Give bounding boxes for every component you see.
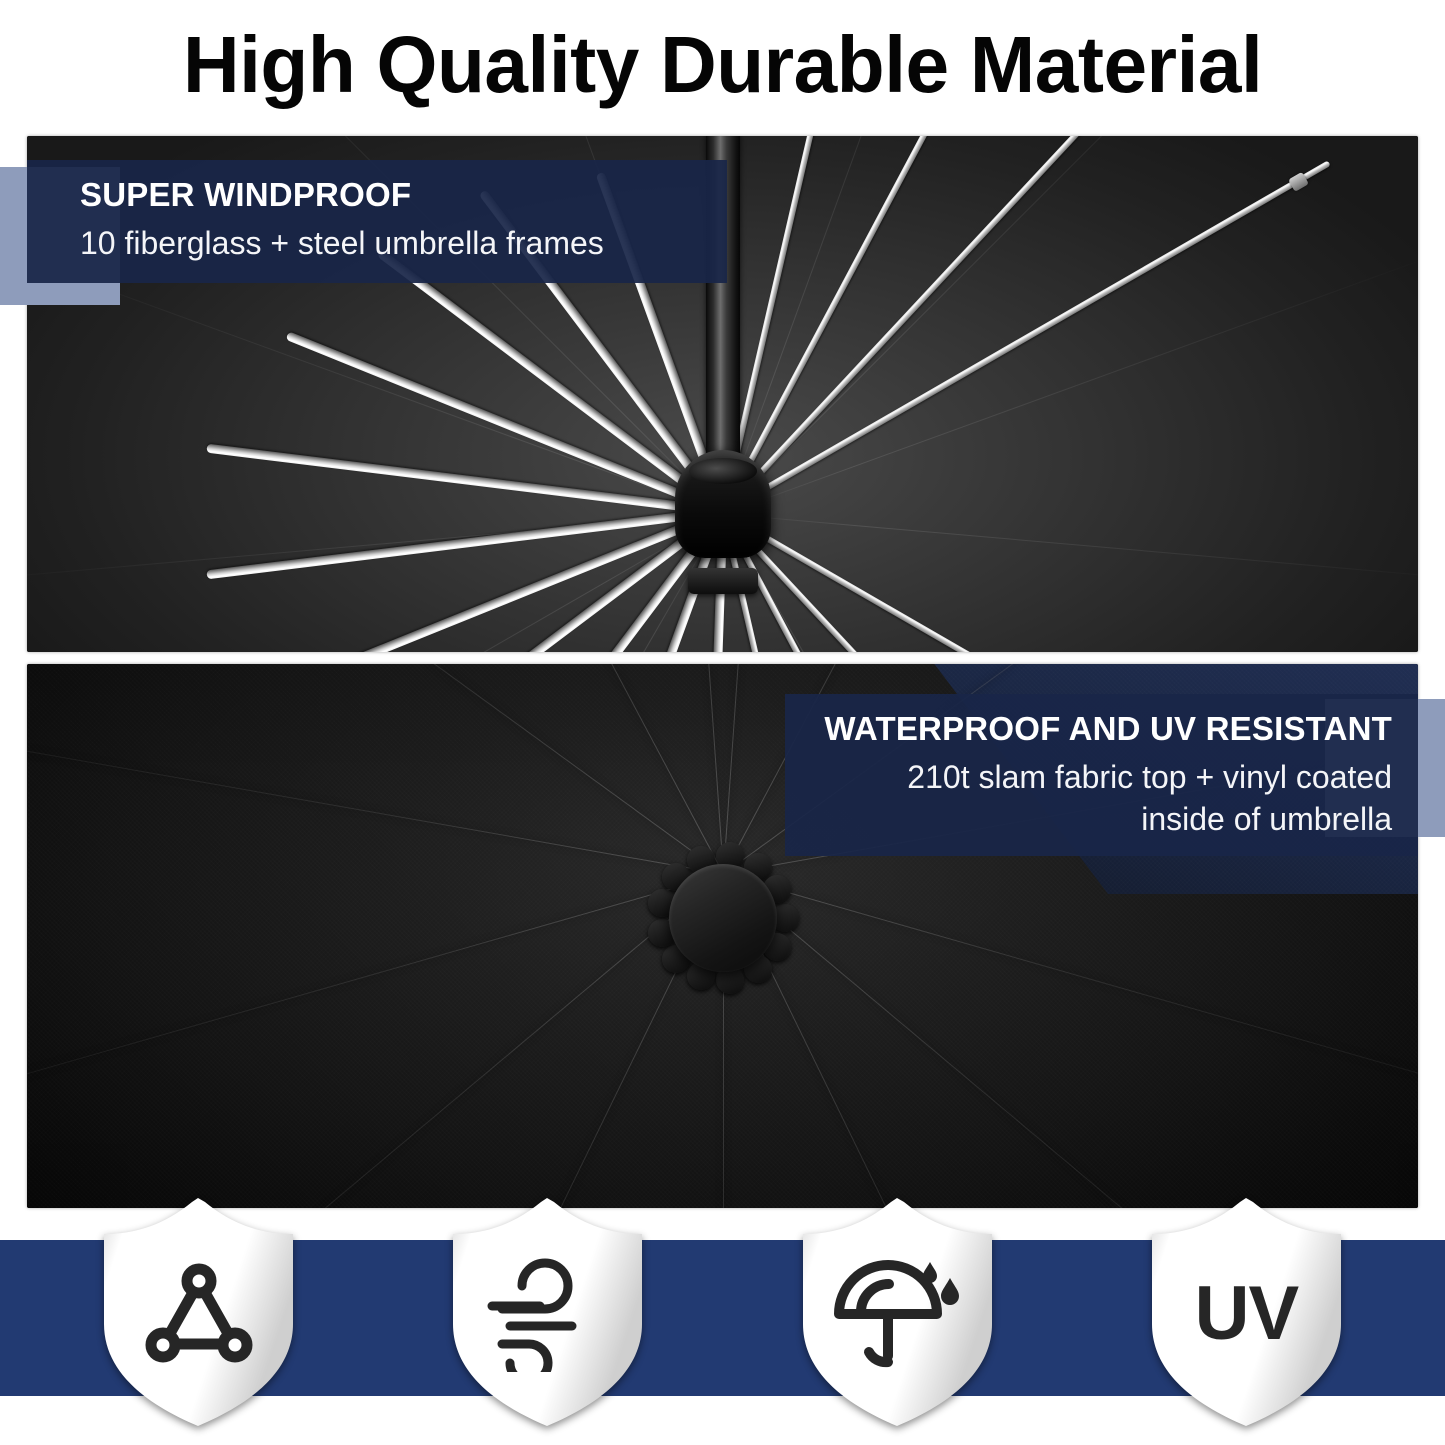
umbrella-hub	[675, 450, 771, 558]
badge-triangle-structure	[96, 1196, 301, 1428]
callout-heading: SUPER WINDPROOF	[80, 176, 727, 215]
feature-badge-row: UV	[0, 1196, 1445, 1445]
umbrella-rib	[285, 507, 724, 652]
triangle-structure-icon	[96, 1248, 301, 1380]
umbrella-rib	[721, 510, 1330, 652]
page-title-area: High Quality Durable Material	[0, 0, 1445, 130]
uv-shield-icon: UV	[1144, 1248, 1349, 1380]
canopy-seam	[723, 514, 1382, 652]
badge-uv: UV	[1144, 1196, 1349, 1428]
canopy-seam	[723, 514, 1104, 652]
callout-super-windproof: SUPER WINDPROOF 10 fiberglass + steel um…	[27, 160, 727, 283]
callout-subtext-line: 210t slam fabric top + vinyl coated	[785, 757, 1392, 799]
umbrella-rib	[720, 511, 1215, 652]
callout-subtext-line: inside of umbrella	[785, 799, 1392, 841]
umbrella-hub-collar	[688, 568, 758, 594]
callout-subtext: 210t slam fabric top + vinyl coated insi…	[785, 757, 1392, 840]
rib-joint	[1288, 172, 1309, 192]
uv-label: UV	[1195, 1276, 1299, 1352]
wind-icon	[445, 1248, 650, 1380]
callout-waterproof-uv: WATERPROOF AND UV RESISTANT 210t slam fa…	[785, 694, 1418, 856]
page-title: High Quality Durable Material	[183, 25, 1262, 105]
canopy-seam	[27, 254, 723, 515]
canopy-seam	[723, 136, 1261, 514]
canopy-seam	[723, 136, 984, 514]
callout-heading: WATERPROOF AND UV RESISTANT	[785, 710, 1392, 749]
callout-subtext: 10 fiberglass + steel umbrella frames	[80, 223, 727, 265]
badge-umbrella-rain	[795, 1196, 1000, 1428]
callout-subtext-line: 10 fiberglass + steel umbrella frames	[80, 223, 727, 265]
canopy-seam	[723, 254, 1418, 515]
center-cap	[669, 864, 777, 972]
badge-wind	[445, 1196, 650, 1428]
umbrella-raindrops-icon	[795, 1248, 1000, 1380]
